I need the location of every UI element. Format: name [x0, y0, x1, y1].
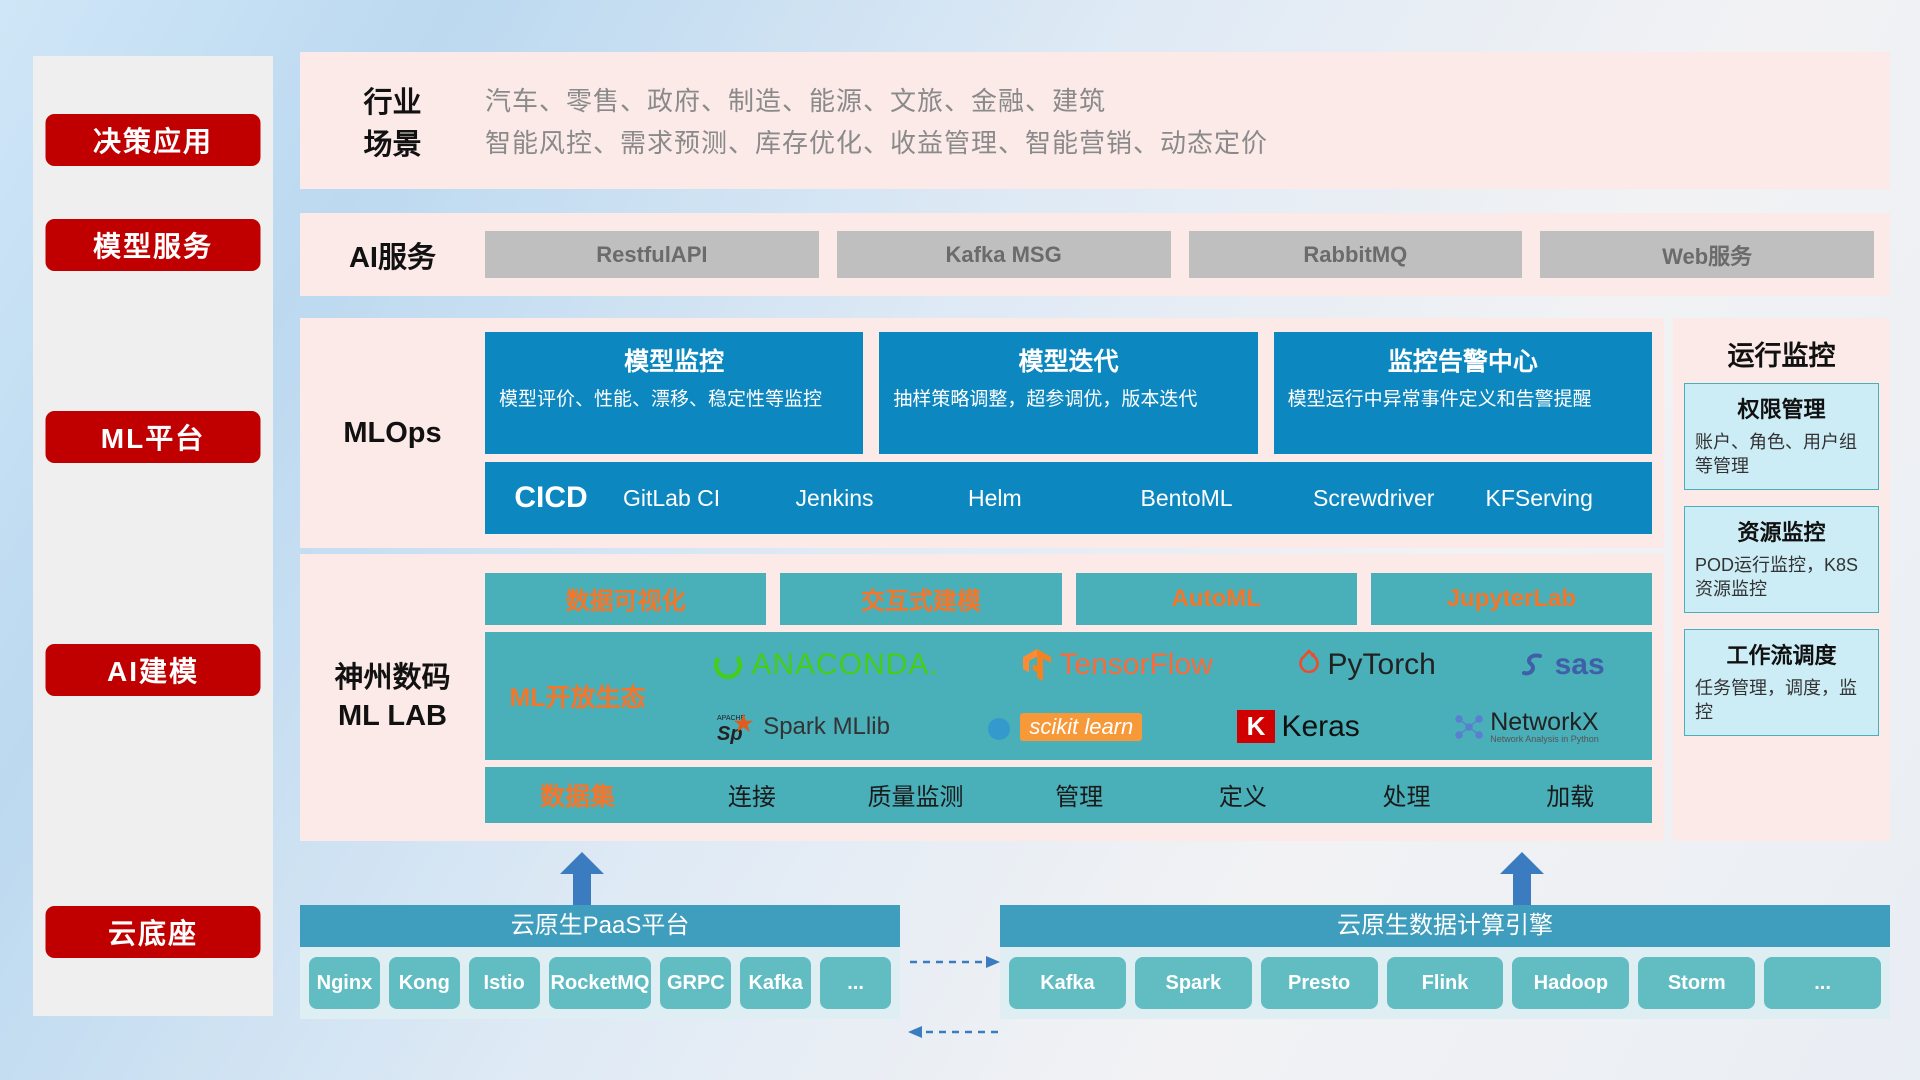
dataset-bar: 数据集 连接 质量监测 管理 定义 处理 加载 — [485, 767, 1652, 823]
eco-logo-row-1: ANACONDA. TensorFlow — [670, 635, 1646, 695]
rail-item-label: AI建模 — [107, 650, 199, 690]
cloud-chip-nginx[interactable]: Nginx — [309, 957, 380, 1009]
networkx-label: NetworkX — [1490, 710, 1599, 735]
ml-lab-content: 数据可视化 交互式建模 AutoML JupyterLab ML开放生态 ANA… — [485, 573, 1664, 823]
cicd-item-bentoml[interactable]: BentoML — [1135, 485, 1308, 511]
rail-item-decision-apps[interactable]: 决策应用 — [46, 114, 261, 166]
card-desc: POD运行监控，K8S资源监控 — [1695, 553, 1868, 602]
engine-chip-hadoop[interactable]: Hadoop — [1512, 957, 1629, 1009]
ml-lab-label-line1: 神州数码 — [300, 660, 485, 698]
rail-item-ai-modeling[interactable]: AI建模 — [46, 644, 261, 696]
card-title: 资源监控 — [1695, 515, 1868, 547]
card-title: 权限管理 — [1695, 392, 1868, 424]
scikit-blue-dot-icon — [984, 712, 1014, 742]
rail-item-ml-platform[interactable]: ML平台 — [46, 411, 261, 463]
card-title: 模型监控 — [499, 342, 849, 378]
dataset-title: 数据集 — [485, 777, 670, 813]
keras-label: Keras — [1281, 710, 1359, 744]
card-title: 工作流调度 — [1695, 638, 1868, 670]
cloud-chip-istio[interactable]: Istio — [469, 957, 540, 1009]
engine-chip-storm[interactable]: Storm — [1638, 957, 1755, 1009]
dataset-item-quality[interactable]: 质量监测 — [834, 777, 998, 812]
pytorch-icon — [1296, 649, 1322, 681]
rail-item-label: 决策应用 — [93, 120, 213, 160]
engine-chip-flink[interactable]: Flink — [1387, 957, 1504, 1009]
scenario-label: 场景 — [300, 121, 485, 163]
rail-item-label: ML平台 — [101, 417, 205, 457]
cicd-item-helm[interactable]: Helm — [962, 485, 1135, 511]
bidirectional-link-icon — [908, 940, 1000, 1060]
mlops-card-list: 模型监控 模型评价、性能、漂移、稳定性等监控 模型迭代 抽样策略调整，超参调优，… — [485, 332, 1652, 454]
anaconda-label: ANACONDA. — [751, 648, 938, 682]
card-desc: 抽样策略调整，超参调优，版本迭代 — [893, 387, 1243, 414]
service-chip-restfulapi[interactable]: RestfulAPI — [485, 231, 819, 278]
rail-item-label: 云底座 — [108, 912, 198, 952]
mlops-card-model-monitoring[interactable]: 模型监控 模型评价、性能、漂移、稳定性等监控 — [485, 332, 863, 454]
scikit-learn-label: scikit learn — [1020, 713, 1142, 741]
dataset-item-manage[interactable]: 管理 — [997, 777, 1161, 812]
ml-lab-label-line2: ML LAB — [300, 698, 485, 736]
engine-chip-presto[interactable]: Presto — [1261, 957, 1378, 1009]
rail-item-model-service[interactable]: 模型服务 — [46, 219, 261, 271]
tensorflow-logo: TensorFlow — [1021, 647, 1212, 683]
anaconda-logo: ANACONDA. — [711, 648, 938, 682]
cloud-chip-grpc[interactable]: GRPC — [660, 957, 731, 1009]
card-title: 监控告警中心 — [1288, 342, 1638, 378]
ai-service-label: AI服务 — [300, 234, 485, 276]
runtime-monitoring-column: 运行监控 权限管理 账户、角色、用户组等管理 资源监控 POD运行监控，K8S资… — [1673, 318, 1890, 841]
decision-apps-band: 行业 汽车、零售、政府、制造、能源、文旅、金融、建筑 场景 智能风控、需求预测、… — [300, 52, 1890, 189]
keras-k-icon: K — [1237, 710, 1276, 743]
cloud-data-engine-title: 云原生数据计算引擎 — [1000, 905, 1890, 947]
cloud-paas-group: 云原生PaaS平台 Nginx Kong Istio RocketMQ GRPC… — [300, 905, 900, 1019]
cicd-title: CICD — [485, 481, 617, 515]
mlops-card-model-iteration[interactable]: 模型迭代 抽样策略调整，超参调优，版本迭代 — [879, 332, 1257, 454]
tool-chip-jupyterlab[interactable]: JupyterLab — [1371, 573, 1652, 625]
cloud-paas-title: 云原生PaaS平台 — [300, 905, 900, 947]
service-chip-rabbitmq[interactable]: RabbitMQ — [1189, 231, 1523, 278]
card-desc: 模型评价、性能、漂移、稳定性等监控 — [499, 387, 849, 414]
tool-chip-automl[interactable]: AutoML — [1076, 573, 1357, 625]
card-desc: 任务管理，调度，监控 — [1695, 676, 1868, 725]
card-desc: 模型运行中异常事件定义和告警提醒 — [1288, 387, 1638, 414]
scenario-row: 场景 智能风控、需求预测、库存优化、收益管理、智能营销、动态定价 — [300, 121, 1890, 163]
networkx-icon — [1454, 713, 1484, 741]
tool-chip-interactive-modeling[interactable]: 交互式建模 — [780, 573, 1061, 625]
dataset-item-define[interactable]: 定义 — [1161, 777, 1325, 812]
eco-label: ML开放生态 — [485, 678, 670, 714]
up-arrow-right-icon — [1500, 852, 1544, 908]
dataset-item-load[interactable]: 加载 — [1488, 777, 1652, 812]
cloud-chip-more[interactable]: ... — [820, 957, 891, 1009]
cloud-paas-chip-list: Nginx Kong Istio RocketMQ GRPC Kafka ... — [300, 947, 900, 1019]
tool-chip-data-visualization[interactable]: 数据可视化 — [485, 573, 766, 625]
ai-service-band: AI服务 RestfulAPI Kafka MSG RabbitMQ Web服务 — [300, 213, 1890, 296]
ai-modeling-band: 神州数码 ML LAB 数据可视化 交互式建模 AutoML JupyterLa… — [300, 554, 1664, 841]
svg-text:Sp: Sp — [717, 723, 743, 744]
rail-item-label: 模型服务 — [93, 225, 213, 265]
service-chip-web[interactable]: Web服务 — [1540, 231, 1874, 278]
mlops-content: 模型监控 模型评价、性能、漂移、稳定性等监控 模型迭代 抽样策略调整，超参调优，… — [485, 332, 1664, 534]
cicd-item-gitlab-ci[interactable]: GitLab CI — [617, 485, 790, 511]
card-desc: 账户、角色、用户组等管理 — [1695, 430, 1868, 479]
cicd-item-jenkins[interactable]: Jenkins — [790, 485, 963, 511]
ml-open-ecosystem: ML开放生态 ANACONDA. — [485, 632, 1652, 760]
cloud-chip-rocketmq[interactable]: RocketMQ — [549, 957, 652, 1009]
pytorch-label: PyTorch — [1328, 648, 1436, 682]
mllib-label: Spark MLlib — [763, 713, 890, 741]
rail-item-cloud-base[interactable]: 云底座 — [46, 906, 261, 958]
tensorflow-icon — [1021, 647, 1053, 683]
monitoring-card-workflow[interactable]: 工作流调度 任务管理，调度，监控 — [1684, 629, 1879, 736]
architecture-main: 行业 汽车、零售、政府、制造、能源、文旅、金融、建筑 场景 智能风控、需求预测、… — [300, 0, 1890, 1080]
cicd-item-kfserving[interactable]: KFServing — [1480, 485, 1653, 511]
sas-icon — [1519, 650, 1549, 680]
networkx-logo: NetworkX Network Analysis in Python — [1454, 710, 1599, 744]
eco-logo-grid: ANACONDA. TensorFlow — [670, 635, 1652, 757]
dataset-item-connect[interactable]: 连接 — [670, 777, 834, 812]
cloud-chip-kafka[interactable]: Kafka — [740, 957, 811, 1009]
cloud-chip-kong[interactable]: Kong — [389, 957, 460, 1009]
stack-layer-rail: 决策应用 模型服务 ML平台 AI建模 云底座 — [33, 56, 273, 1016]
anaconda-icon — [711, 648, 745, 682]
tensorflow-label: TensorFlow — [1059, 648, 1212, 682]
ai-service-chip-list: RestfulAPI Kafka MSG RabbitMQ Web服务 — [485, 231, 1890, 278]
sas-logo: sas — [1519, 648, 1605, 682]
engine-chip-kafka[interactable]: Kafka — [1009, 957, 1126, 1009]
monitoring-card-resources[interactable]: 资源监控 POD运行监控，K8S资源监控 — [1684, 506, 1879, 613]
monitoring-card-permissions[interactable]: 权限管理 账户、角色、用户组等管理 — [1684, 383, 1879, 490]
spark-mllib-logo: APACHE Sp Spark MLlib — [717, 710, 890, 744]
spark-icon: APACHE Sp — [717, 710, 757, 744]
engine-chip-more[interactable]: ... — [1764, 957, 1881, 1009]
dataset-item-process[interactable]: 处理 — [1325, 777, 1489, 812]
service-chip-kafka-msg[interactable]: Kafka MSG — [837, 231, 1171, 278]
industry-label: 行业 — [300, 79, 485, 121]
scenario-values: 智能风控、需求预测、库存优化、收益管理、智能营销、动态定价 — [485, 123, 1268, 160]
up-arrow-left-icon — [560, 852, 604, 908]
eco-logo-row-2: APACHE Sp Spark MLlib scikit learn — [670, 697, 1646, 757]
mlops-label: MLOps — [300, 417, 485, 450]
ml-lab-label: 神州数码 ML LAB — [300, 660, 485, 735]
runtime-monitoring-title: 运行监控 — [1673, 318, 1890, 383]
scikit-learn-logo: scikit learn — [984, 712, 1142, 742]
cicd-bar: CICD GitLab CI Jenkins Helm BentoML Scre… — [485, 462, 1652, 534]
mlops-card-alert-center[interactable]: 监控告警中心 模型运行中异常事件定义和告警提醒 — [1274, 332, 1652, 454]
dataset-item-list: 连接 质量监测 管理 定义 处理 加载 — [670, 777, 1652, 812]
keras-logo: K Keras — [1237, 710, 1360, 744]
cicd-item-list: GitLab CI Jenkins Helm BentoML Screwdriv… — [617, 485, 1652, 511]
cicd-item-screwdriver[interactable]: Screwdriver — [1307, 485, 1480, 511]
industry-values: 汽车、零售、政府、制造、能源、文旅、金融、建筑 — [485, 81, 1106, 118]
networkx-sub-label: Network Analysis in Python — [1490, 735, 1599, 744]
pytorch-logo: PyTorch — [1296, 648, 1436, 682]
industry-row: 行业 汽车、零售、政府、制造、能源、文旅、金融、建筑 — [300, 79, 1890, 121]
cloud-data-engine-group: 云原生数据计算引擎 Kafka Spark Presto Flink Hadoo… — [1000, 905, 1890, 1019]
cloud-data-engine-chip-list: Kafka Spark Presto Flink Hadoop Storm ..… — [1000, 947, 1890, 1019]
sas-label: sas — [1555, 648, 1605, 682]
card-title: 模型迭代 — [893, 342, 1243, 378]
engine-chip-spark[interactable]: Spark — [1135, 957, 1252, 1009]
mlops-band: MLOps 模型监控 模型评价、性能、漂移、稳定性等监控 模型迭代 抽样策略调整… — [300, 318, 1664, 548]
ml-tool-list: 数据可视化 交互式建模 AutoML JupyterLab — [485, 573, 1652, 625]
